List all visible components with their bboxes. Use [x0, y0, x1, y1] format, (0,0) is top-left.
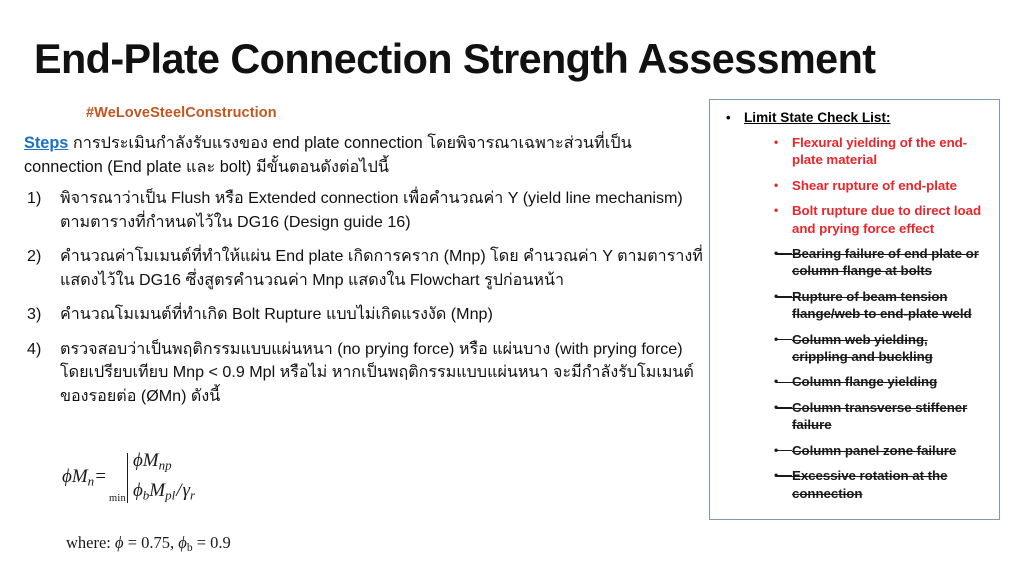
- case2-sub: pl: [165, 487, 175, 502]
- formula-case-2: ϕbMpl/γr: [133, 478, 195, 508]
- list-item: • Rupture of beam tension flange/web to …: [774, 288, 985, 323]
- steps-intro-paragraph: Steps การประเมินกำลังรับแรงของ end plate…: [24, 131, 704, 179]
- case1-phi: ϕ: [133, 450, 143, 471]
- hashtag-label: #WeLoveSteelConstruction: [86, 104, 704, 122]
- limit-state-header-text: Limit State Check List:: [744, 110, 891, 125]
- list-item: 2) คำนวณค่าโมเมนต์ที่ทำให้แผ่น End plate…: [24, 245, 704, 292]
- list-item: • Column transverse stiffener failure: [774, 399, 985, 434]
- formula-cases: ϕMnp ϕbMpl/γr: [133, 448, 195, 507]
- list-item-text: คำนวณค่าโมเมนต์ที่ทำให้แผ่น End plate เก…: [60, 247, 703, 289]
- list-item-text: Column flange yielding: [792, 374, 937, 389]
- limit-state-header: • Limit State Check List:: [722, 109, 999, 127]
- formula-brace: [127, 453, 128, 503]
- list-item-number: 2): [27, 245, 57, 269]
- case2-slash: /: [175, 480, 182, 501]
- bullet-icon: •: [774, 373, 778, 390]
- page-title: End-Plate Connection Strength Assessment: [34, 34, 986, 84]
- case2-gamma-sub: r: [190, 487, 195, 502]
- list-item-text: Rupture of beam tension flange/web to en…: [792, 289, 972, 321]
- steps-intro-text: การประเมินกำลังรับแรงของ end plate conne…: [24, 134, 632, 176]
- formula-m-symbol: M: [72, 466, 88, 487]
- list-item-number: 3): [27, 303, 57, 327]
- list-item: • Column panel zone failure: [774, 442, 985, 459]
- list-item: • Flexural yielding of the end-plate mat…: [774, 134, 985, 169]
- list-item-text: Column panel zone failure: [792, 443, 956, 458]
- where-phi-b-symbol: ϕ: [178, 533, 187, 552]
- bullet-icon: •: [774, 399, 778, 416]
- steps-column: #WeLoveSteelConstruction Steps การประเมิ…: [24, 104, 704, 419]
- list-item: 4) ตรวจสอบว่าเป็นพฤติกรรมแบบแผ่นหนา (no …: [24, 338, 704, 409]
- bullet-icon: •: [774, 467, 778, 484]
- formula-equals: =: [94, 466, 107, 487]
- where-phi-value: = 0.75,: [124, 533, 179, 552]
- steps-label: Steps: [24, 134, 68, 152]
- list-item-text: ตรวจสอบว่าเป็นพฤติกรรมแบบแผ่นหนา (no pry…: [60, 340, 694, 405]
- steps-list: 1) พิจารณาว่าเป็น Flush หรือ Extended co…: [24, 187, 704, 408]
- list-item-text: Bolt rupture due to direct load and pryi…: [792, 203, 981, 235]
- bullet-icon: •: [774, 331, 778, 348]
- list-item: • Shear rupture of end-plate: [774, 177, 985, 194]
- bullet-icon: •: [774, 177, 778, 194]
- bullet-icon: •: [774, 245, 778, 262]
- case1-m: M: [143, 450, 159, 471]
- list-item: 3) คำนวณโมเมนต์ที่ทำเกิด Bolt Rupture แบ…: [24, 303, 704, 327]
- formula-case-1: ϕMnp: [133, 448, 195, 478]
- bullet-icon: •: [726, 109, 731, 127]
- list-item-text: Column transverse stiffener failure: [792, 400, 967, 432]
- bullet-icon: •: [774, 202, 778, 219]
- formula-phi-symbol: ϕ: [62, 466, 72, 487]
- list-item-text: Flexural yielding of the end-plate mater…: [792, 135, 967, 167]
- bullet-icon: •: [774, 288, 778, 305]
- list-item: • Column flange yielding: [774, 373, 985, 390]
- formula-min-label: min: [109, 493, 126, 507]
- list-item-number: 1): [27, 187, 57, 211]
- case2-phi: ϕ: [133, 480, 143, 501]
- where-prefix: where:: [66, 533, 115, 552]
- formula-where-note: where: ϕ = 0.75, ϕb = 0.9: [66, 533, 231, 554]
- list-item: • Excessive rotation at the connection: [774, 467, 985, 502]
- list-item: • Bolt rupture due to direct load and pr…: [774, 202, 985, 237]
- list-item-number: 4): [27, 338, 57, 362]
- case1-sub: np: [159, 458, 172, 473]
- list-item: • Bearing failure of end plate or column…: [774, 245, 985, 280]
- formula-left-hand-side: ϕMn=: [62, 466, 107, 490]
- case2-gamma: γ: [183, 480, 191, 501]
- where-phi-symbol: ϕ: [115, 533, 124, 552]
- list-item-text: Shear rupture of end-plate: [792, 178, 957, 193]
- list-item-text: Column web yielding, crippling and buckl…: [792, 332, 933, 364]
- list-item: • Column web yielding, crippling and buc…: [774, 331, 985, 366]
- case2-m: M: [149, 480, 165, 501]
- bullet-icon: •: [774, 442, 778, 459]
- list-item: 1) พิจารณาว่าเป็น Flush หรือ Extended co…: [24, 187, 704, 234]
- list-item-text: Excessive rotation at the connection: [792, 468, 947, 500]
- list-item-text: Bearing failure of end plate or column f…: [792, 246, 979, 278]
- list-item-text: คำนวณโมเมนต์ที่ทำเกิด Bolt Rupture แบบไม…: [60, 305, 493, 323]
- limit-state-check-list-panel: • Limit State Check List: • Flexural yie…: [709, 99, 1000, 520]
- moment-capacity-formula: ϕMn= min ϕMnp ϕbMpl/γr: [62, 448, 195, 507]
- limit-state-items: • Flexural yielding of the end-plate mat…: [710, 134, 999, 502]
- where-phi-b-value: = 0.9: [193, 533, 231, 552]
- list-item-text: พิจารณาว่าเป็น Flush หรือ Extended conne…: [60, 189, 683, 231]
- bullet-icon: •: [774, 134, 778, 151]
